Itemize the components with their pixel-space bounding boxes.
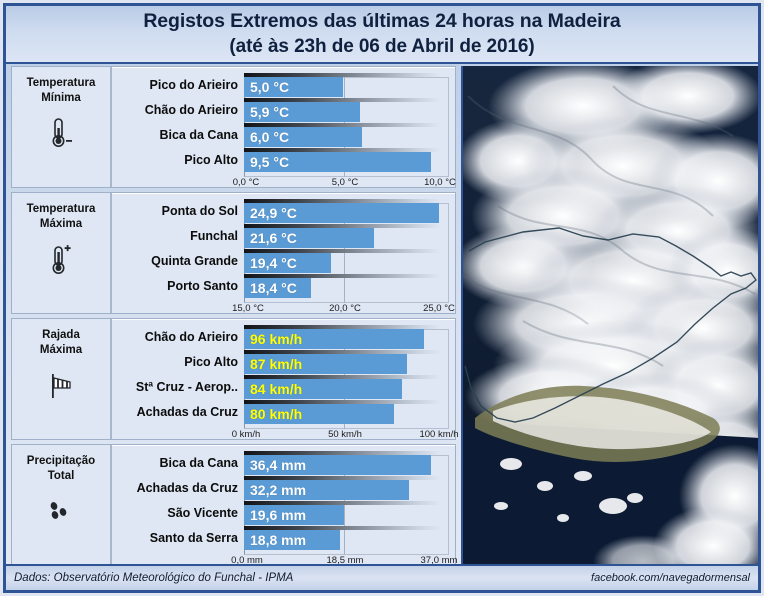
row-label: Funchal bbox=[112, 224, 244, 249]
panel-temperatura-minima: Temperatura Mínima bbox=[11, 66, 456, 188]
bar-track: 36,4 mm bbox=[244, 451, 449, 476]
bar: 18,8 mm bbox=[244, 530, 340, 550]
panel-label-temperatura-maxima: Temperatura Máxima bbox=[12, 193, 112, 313]
row-label: São Vicente bbox=[112, 501, 244, 526]
table-row: Achadas da Cruz 80 km/h bbox=[112, 400, 449, 425]
panel-label-line-1: Precipitação bbox=[27, 454, 95, 469]
row-label: Pico Alto bbox=[112, 148, 244, 173]
table-row: Ponta do Sol 24,9 °C bbox=[112, 199, 449, 224]
page-title: Registos Extremos das últimas 24 horas n… bbox=[6, 6, 758, 64]
row-label: Chão do Arieiro bbox=[112, 98, 244, 123]
table-row: Bica da Cana 36,4 mm bbox=[112, 451, 449, 476]
row-label: Chão do Arieiro bbox=[112, 325, 244, 350]
bar-track: 5,0 °C bbox=[244, 73, 449, 98]
footer-source: Dados: Observatório Meteorológico do Fun… bbox=[14, 572, 293, 584]
footer-credit[interactable]: facebook.com/navegadormensal bbox=[591, 572, 750, 584]
row-label: Santo da Serra bbox=[112, 526, 244, 551]
panel-label-precipitacao-total: Precipitação Total bbox=[12, 445, 112, 565]
panel-label-line-2: Total bbox=[48, 469, 75, 484]
bar-value: 80 km/h bbox=[244, 404, 302, 424]
table-row: Santo da Serra 18,8 mm bbox=[112, 526, 449, 551]
row-label: Pico Alto bbox=[112, 350, 244, 375]
bar-value: 87 km/h bbox=[244, 354, 302, 374]
bar: 96 km/h bbox=[244, 329, 424, 349]
bar-track: 96 km/h bbox=[244, 325, 449, 350]
windsock-icon bbox=[44, 366, 78, 404]
raindrops-icon bbox=[44, 492, 78, 530]
panel-label-line-1: Temperatura bbox=[27, 76, 96, 91]
table-row: Achadas da Cruz 32,2 mm bbox=[112, 476, 449, 501]
row-label: Bica da Cana bbox=[112, 451, 244, 476]
x-axis: 0,0 °C 5,0 °C 10,0 °C bbox=[112, 177, 443, 193]
row-label: Bica da Cana bbox=[112, 123, 244, 148]
bar-value: 96 km/h bbox=[244, 329, 302, 349]
row-label: Achadas da Cruz bbox=[112, 400, 244, 425]
bar-track: 18,8 mm bbox=[244, 526, 449, 551]
bar: 5,9 °C bbox=[244, 102, 360, 122]
satellite-graphic bbox=[463, 66, 758, 568]
bar: 9,5 °C bbox=[244, 152, 431, 172]
bar-value: 6,0 °C bbox=[244, 127, 289, 147]
bar-track: 6,0 °C bbox=[244, 123, 449, 148]
bar-value: 5,9 °C bbox=[244, 102, 289, 122]
bar-value: 9,5 °C bbox=[244, 152, 289, 172]
panel-rajada-maxima: Rajada Máxima bbox=[11, 318, 456, 440]
axis-tick: 5,0 °C bbox=[332, 177, 359, 188]
bar-track: 19,4 °C bbox=[244, 249, 449, 274]
bar-value: 5,0 °C bbox=[244, 77, 289, 97]
table-row: Chão do Arieiro 5,9 °C bbox=[112, 98, 449, 123]
axis-tick: 0,0 °C bbox=[233, 177, 260, 188]
bar: 5,0 °C bbox=[244, 77, 343, 97]
charts-column: Temperatura Mínima bbox=[6, 66, 461, 568]
axis-tick: 100 km/h bbox=[419, 429, 458, 440]
table-row: Porto Santo 18,4 °C bbox=[112, 274, 449, 299]
chart-rajada-maxima: Chão do Arieiro 96 km/h Pico Alto bbox=[112, 319, 455, 439]
axis-tick: 20,0 °C bbox=[329, 303, 361, 314]
bar-value: 19,4 °C bbox=[244, 253, 297, 273]
bar-track: 5,9 °C bbox=[244, 98, 449, 123]
table-row: Funchal 21,6 °C bbox=[112, 224, 449, 249]
row-label: Achadas da Cruz bbox=[112, 476, 244, 501]
thermometer-minus-icon bbox=[46, 114, 76, 152]
row-label: Quinta Grande bbox=[112, 249, 244, 274]
table-row: Chão do Arieiro 96 km/h bbox=[112, 325, 449, 350]
panel-label-line-2: Máxima bbox=[40, 217, 82, 232]
panel-temperatura-maxima: Temperatura Máxima bbox=[11, 192, 456, 314]
bar-track: 9,5 °C bbox=[244, 148, 449, 173]
satellite-image-madeira bbox=[461, 66, 758, 568]
bar-track: 87 km/h bbox=[244, 350, 449, 375]
chart-precipitacao-total: Bica da Cana 36,4 mm Achadas da Cruz bbox=[112, 445, 455, 565]
table-row: Pico do Arieiro 5,0 °C bbox=[112, 73, 449, 98]
panel-label-rajada-maxima: Rajada Máxima bbox=[12, 319, 112, 439]
bar: 19,4 °C bbox=[244, 253, 331, 273]
bar-track: 32,2 mm bbox=[244, 476, 449, 501]
panel-precipitacao-total: Precipitação Total bbox=[11, 444, 456, 566]
axis-tick: 25,0 °C bbox=[423, 303, 455, 314]
x-axis: 0 km/h 50 km/h 100 km/h bbox=[112, 429, 443, 445]
bar-value: 84 km/h bbox=[244, 379, 302, 399]
row-label: Ponta do Sol bbox=[112, 199, 244, 224]
bar: 6,0 °C bbox=[244, 127, 362, 147]
chart-temperatura-minima: Pico do Arieiro 5,0 °C Chão do Arieiro bbox=[112, 67, 455, 187]
bar-value: 19,6 mm bbox=[244, 505, 306, 525]
x-axis: 15,0 °C 20,0 °C 25,0 °C bbox=[112, 303, 443, 319]
bar: 21,6 °C bbox=[244, 228, 374, 248]
bar-value: 32,2 mm bbox=[244, 480, 306, 500]
footer-bar: Dados: Observatório Meteorológico do Fun… bbox=[6, 564, 758, 590]
title-line-2: (até às 23h de 06 de Abril de 2016) bbox=[229, 34, 534, 59]
infographic-frame: Registos Extremos das últimas 24 horas n… bbox=[3, 3, 761, 593]
table-row: Stª Cruz - Aerop.. 84 km/h bbox=[112, 375, 449, 400]
bar-track: 21,6 °C bbox=[244, 224, 449, 249]
panel-label-line-2: Máxima bbox=[40, 343, 82, 358]
bar-value: 18,4 °C bbox=[244, 278, 297, 298]
table-row: Pico Alto 9,5 °C bbox=[112, 148, 449, 173]
panel-label-line-1: Temperatura bbox=[27, 202, 96, 217]
panel-label-temperatura-minima: Temperatura Mínima bbox=[12, 67, 112, 187]
axis-tick: 0 km/h bbox=[232, 429, 261, 440]
bar: 24,9 °C bbox=[244, 203, 439, 223]
thermometer-plus-icon bbox=[46, 240, 76, 278]
table-row: Quinta Grande 19,4 °C bbox=[112, 249, 449, 274]
bar-track: 19,6 mm bbox=[244, 501, 449, 526]
bar: 80 km/h bbox=[244, 404, 394, 424]
infographic-root: Registos Extremos das últimas 24 horas n… bbox=[0, 0, 764, 596]
bar-value: 24,9 °C bbox=[244, 203, 297, 223]
bar-value: 36,4 mm bbox=[244, 455, 306, 475]
row-label: Porto Santo bbox=[112, 274, 244, 299]
panel-label-line-2: Mínima bbox=[41, 91, 81, 106]
bar: 36,4 mm bbox=[244, 455, 431, 475]
chart-temperatura-maxima: Ponta do Sol 24,9 °C Funchal bbox=[112, 193, 455, 313]
table-row: Bica da Cana 6,0 °C bbox=[112, 123, 449, 148]
bar-value: 21,6 °C bbox=[244, 228, 297, 248]
axis-tick: 15,0 °C bbox=[232, 303, 264, 314]
bar: 87 km/h bbox=[244, 354, 407, 374]
title-line-1: Registos Extremos das últimas 24 horas n… bbox=[143, 9, 620, 34]
bar: 84 km/h bbox=[244, 379, 402, 399]
row-label: Pico do Arieiro bbox=[112, 73, 244, 98]
bar-value: 18,8 mm bbox=[244, 530, 306, 550]
axis-tick: 50 km/h bbox=[328, 429, 362, 440]
table-row: Pico Alto 87 km/h bbox=[112, 350, 449, 375]
bar: 19,6 mm bbox=[244, 505, 344, 525]
bar: 18,4 °C bbox=[244, 278, 311, 298]
panel-label-line-1: Rajada bbox=[42, 328, 80, 343]
axis-tick: 10,0 °C bbox=[424, 177, 456, 188]
bar-track: 80 km/h bbox=[244, 400, 449, 425]
table-row: São Vicente 19,6 mm bbox=[112, 501, 449, 526]
bar-track: 84 km/h bbox=[244, 375, 449, 400]
bar: 32,2 mm bbox=[244, 480, 409, 500]
bar-track: 24,9 °C bbox=[244, 199, 449, 224]
row-label: Stª Cruz - Aerop.. bbox=[112, 375, 244, 400]
bar-track: 18,4 °C bbox=[244, 274, 449, 299]
